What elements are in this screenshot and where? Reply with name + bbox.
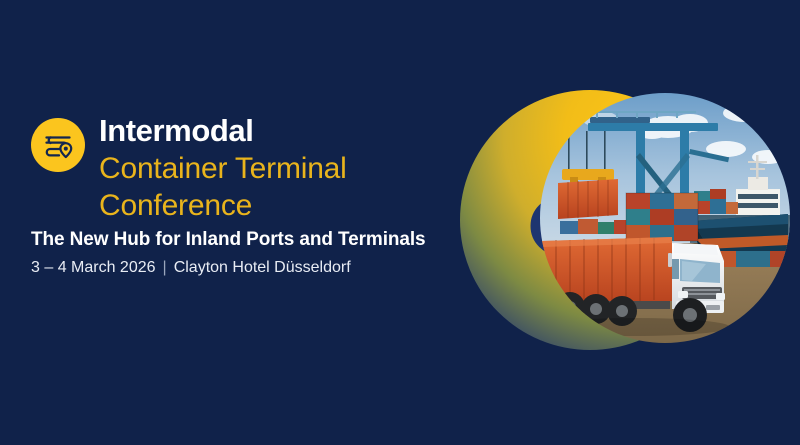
brand-lockup: Intermodal Container Terminal Conference bbox=[31, 112, 347, 224]
brand-title-primary: Intermodal bbox=[99, 112, 347, 150]
brand-title-secondary: Container Terminal bbox=[99, 150, 347, 187]
hero-graphic bbox=[455, 80, 800, 370]
event-tagline: The New Hub for Inland Ports and Termina… bbox=[31, 229, 426, 251]
dateline-separator: | bbox=[163, 259, 167, 277]
port-terminal-photo bbox=[540, 93, 790, 343]
route-pin-icon bbox=[31, 118, 85, 172]
title-stack: Intermodal Container Terminal Conference bbox=[99, 112, 347, 224]
conference-banner: Intermodal Container Terminal Conference… bbox=[0, 0, 800, 445]
event-venue: Clayton Hotel Düsseldorf bbox=[174, 259, 351, 277]
event-dateline: 3 – 4 March 2026 | Clayton Hotel Düsseld… bbox=[31, 259, 351, 277]
event-dates: 3 – 4 March 2026 bbox=[31, 259, 156, 277]
brand-title-tertiary: Conference bbox=[99, 187, 347, 224]
